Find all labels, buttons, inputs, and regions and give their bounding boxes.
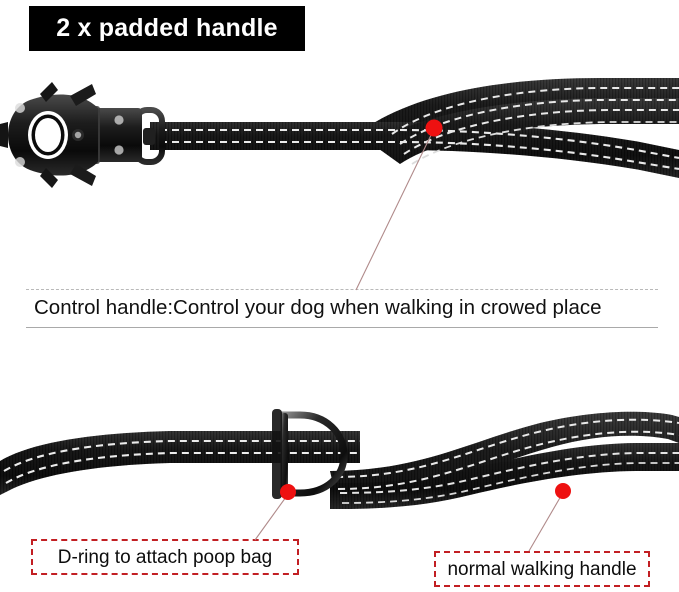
d-ring-strap-wrap — [272, 409, 282, 499]
caption-control-handle-text: Control handle:Control your dog when wal… — [26, 298, 602, 319]
title-banner: 2 x padded handle — [29, 6, 305, 51]
caption-d-ring: D-ring to attach poop bag — [31, 539, 299, 575]
frog-clip-clasp — [0, 82, 98, 188]
product-infographic: 2 x padded handle — [0, 0, 679, 592]
caption-walking-handle: normal walking handle — [434, 551, 650, 587]
caption-control-handle: Control handle:Control your dog when wal… — [26, 289, 658, 328]
banner-title-text: 2 x padded handle — [56, 16, 278, 41]
caption-d-ring-text: D-ring to attach poop bag — [58, 548, 272, 567]
caption-walking-handle-text: normal walking handle — [447, 560, 636, 579]
product-photo-top — [0, 72, 679, 217]
product-photo-bottom — [0, 385, 679, 520]
